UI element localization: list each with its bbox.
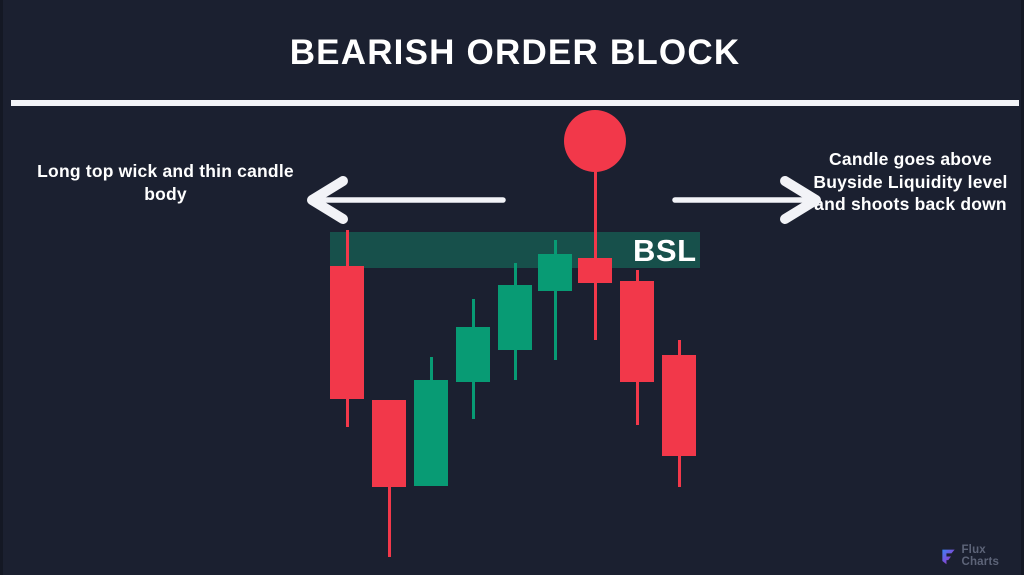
candle-body xyxy=(372,400,406,487)
arrow-left-icon xyxy=(303,176,508,224)
candle-body xyxy=(620,281,654,382)
candle-body xyxy=(498,285,532,350)
watermark: Flux Charts xyxy=(941,544,1021,568)
annotation-left-text: Long top wick and thin candle body xyxy=(33,160,298,205)
candle-body xyxy=(578,258,612,283)
candle-body xyxy=(538,254,572,291)
infographic-canvas: BEARISH ORDER BLOCK BSL Long top wick an… xyxy=(0,0,1024,575)
candle-wick xyxy=(594,170,597,340)
watermark-text: Flux Charts xyxy=(961,544,1021,568)
candle-body xyxy=(662,355,696,456)
annotation-right-text: Candle goes above Buyside Liquidity leve… xyxy=(808,148,1013,216)
flux-charts-logo-icon xyxy=(941,547,956,566)
candle-body xyxy=(456,327,490,382)
candle-body xyxy=(414,380,448,486)
arrow-right-icon xyxy=(675,176,825,224)
candlestick-chart: BSL xyxy=(3,0,1024,575)
bsl-zone-label: BSL xyxy=(633,233,697,269)
candle-body xyxy=(330,266,364,399)
liquidity-sweep-marker-icon xyxy=(564,110,626,172)
